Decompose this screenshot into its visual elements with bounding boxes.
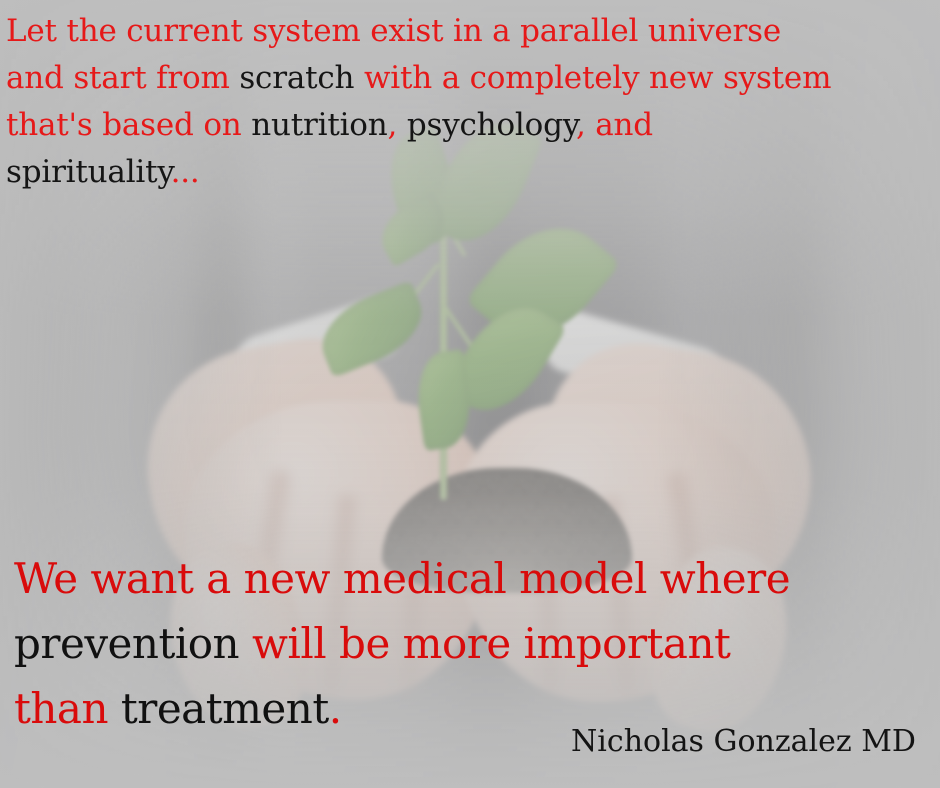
quote-segment-black: nutrition	[251, 107, 387, 143]
quote-line: Let the current system exist in a parall…	[6, 8, 940, 55]
quote-segment-red: with a completely new system	[354, 60, 831, 96]
quote-image-canvas: Let the current system exist in a parall…	[0, 0, 940, 788]
quote-segment-red: and	[586, 107, 653, 143]
quote-segment-red: ,	[388, 107, 398, 143]
quote-segment-black: scratch	[239, 60, 354, 96]
quote-line: spirituality...	[6, 149, 940, 196]
quote-segment-red: Let the current system exist in a parall…	[6, 13, 781, 49]
quote-segment-red: We want a new medical model where	[14, 554, 790, 603]
quote-segment-red: and start from	[6, 60, 239, 96]
quote-segment-black: prevention	[14, 619, 252, 668]
quote-segment-red: will be more important	[252, 619, 730, 668]
quote-line: We want a new medical model where	[14, 546, 940, 611]
quote-line: that's based on nutrition, psychology, a…	[6, 102, 940, 149]
quote-top-block: Let the current system exist in a parall…	[6, 8, 940, 196]
quote-segment-black: spirituality	[6, 154, 171, 190]
attribution: Nicholas Gonzalez MD	[0, 722, 916, 762]
quote-bottom-block: We want a new medical model whereprevent…	[14, 546, 940, 741]
quote-line: prevention will be more important	[14, 611, 940, 676]
quote-line: and start from scratch with a completely…	[6, 55, 940, 102]
attribution-text: Nicholas Gonzalez MD	[571, 724, 916, 759]
quote-segment-red: ,	[576, 107, 586, 143]
quote-segment-red: that's based on	[6, 107, 251, 143]
quote-segment-red: ...	[171, 154, 200, 190]
quote-segment-black: psychology	[397, 107, 576, 143]
